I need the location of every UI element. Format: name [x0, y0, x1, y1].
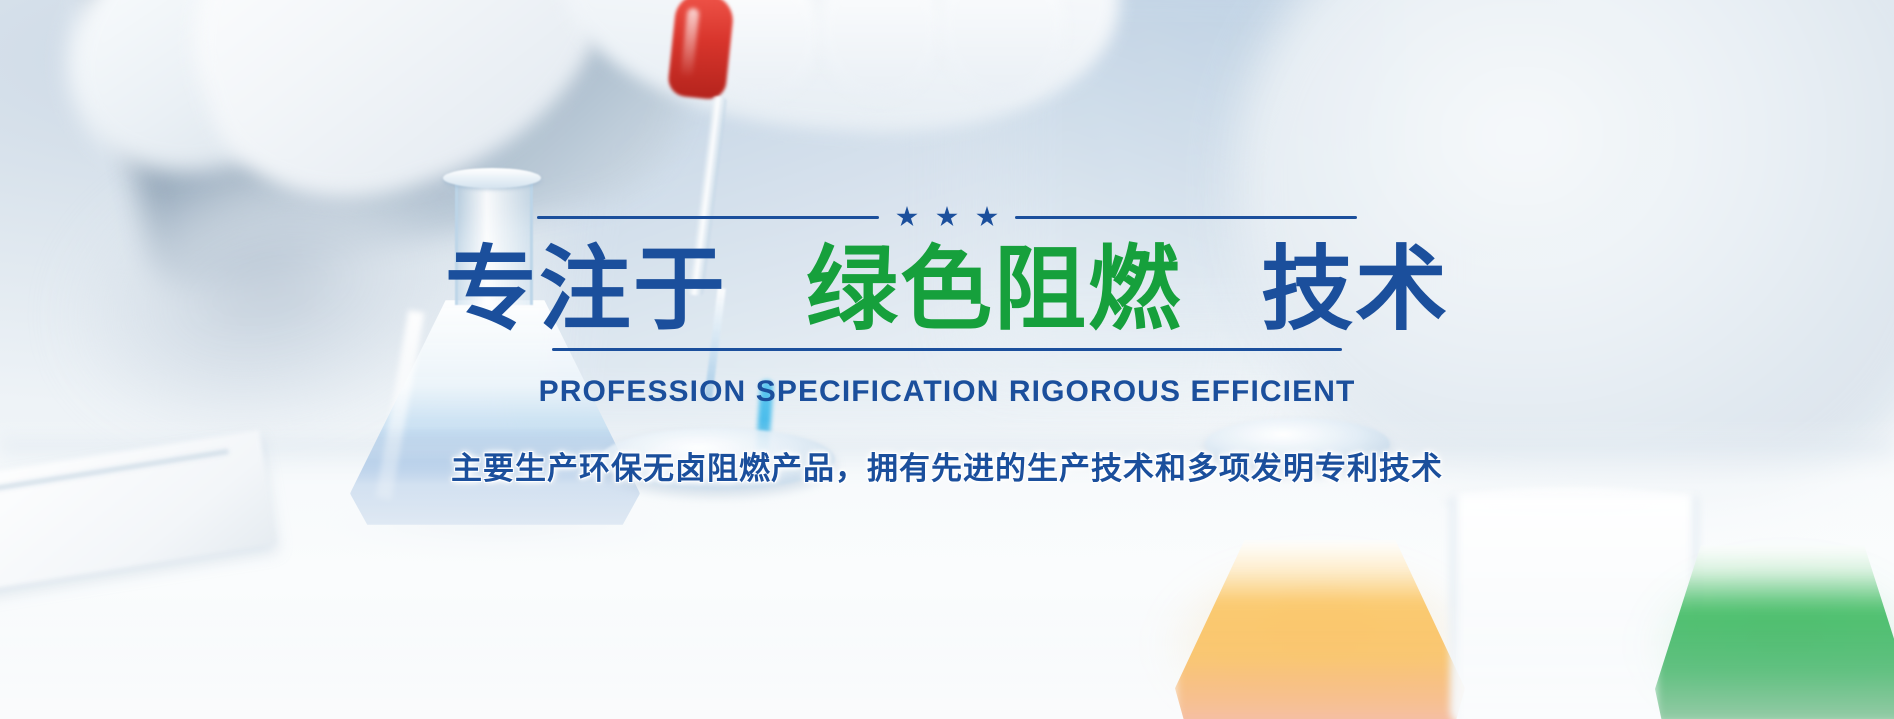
star-icon — [936, 206, 958, 228]
star-icon — [976, 206, 998, 228]
banner-content: 专注于 绿色阻燃 技术 PROFESSION SPECIFICATION RIG… — [0, 0, 1894, 719]
divider-rule-right — [1015, 216, 1357, 219]
title-underline — [552, 348, 1342, 351]
title-segment-1: 专注于 — [445, 239, 727, 341]
decorative-divider — [537, 206, 1357, 228]
banner-subtitle-en: PROFESSION SPECIFICATION RIGOROUS EFFICI… — [539, 375, 1356, 409]
star-icon — [896, 206, 918, 228]
title-segment-3: 技术 — [1261, 239, 1449, 341]
star-group — [896, 206, 998, 228]
title-segment-2: 绿色阻燃 — [806, 239, 1182, 341]
hero-banner: 专注于 绿色阻燃 技术 PROFESSION SPECIFICATION RIG… — [0, 0, 1894, 719]
banner-title: 专注于 绿色阻燃 技术 — [445, 234, 1449, 346]
divider-rule-left — [537, 216, 879, 219]
banner-description-cn: 主要生产环保无卤阻燃产品，拥有先进的生产技术和多项发明专利技术 — [451, 443, 1443, 488]
